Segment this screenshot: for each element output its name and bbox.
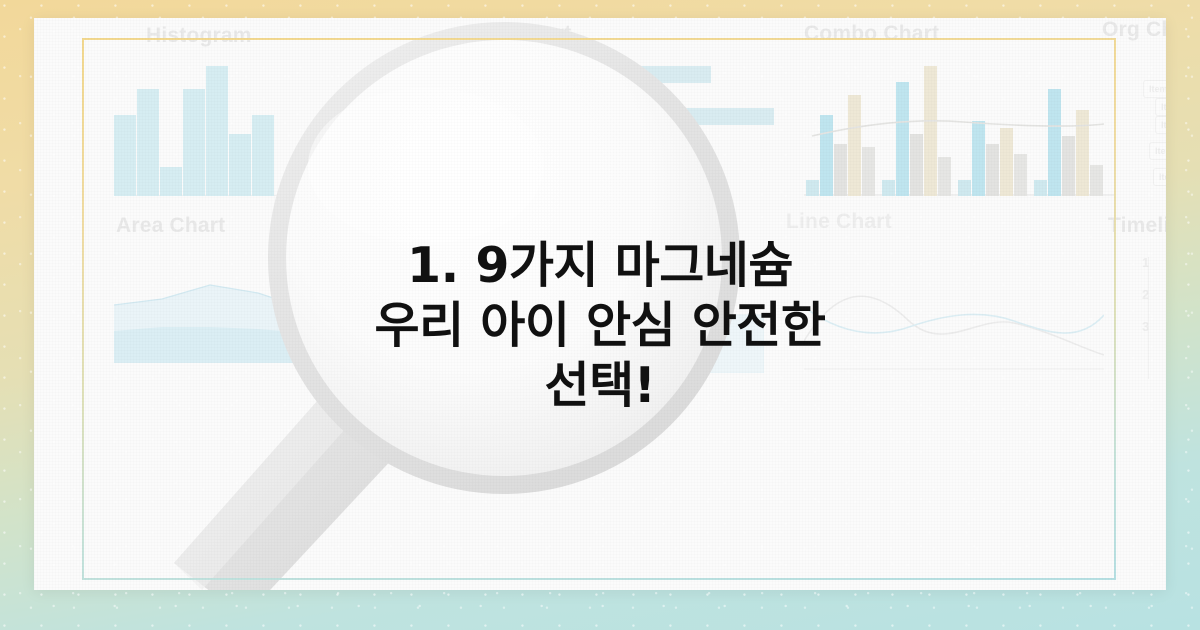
combo-trend-line: [804, 66, 1114, 196]
org-node: Item 2: [1155, 98, 1166, 116]
histogram-bar: [298, 162, 320, 196]
label-bar-chart: Bar Chart: [474, 22, 572, 46]
label-line-chart: Line Chart: [786, 210, 892, 234]
bar-chart: [474, 66, 774, 186]
label-org-chart: Org Chart: [1102, 18, 1166, 42]
label-combo-chart: Combo Chart: [804, 22, 939, 46]
org-node: Item 3: [1155, 116, 1166, 134]
label-area-chart: Area Chart: [116, 214, 225, 238]
org-chart: Item 1 Item 2 Item 3 Item 4 Item 5: [1139, 78, 1166, 198]
poster-card: Histogram Bar Chart Combo Chart Org Char…: [34, 18, 1166, 590]
histogram-bar: [160, 167, 182, 196]
label-histogram: Histogram: [146, 24, 252, 48]
bar-chart-axis: [474, 66, 475, 186]
histogram-bar: [137, 89, 159, 196]
histogram-bar: [114, 115, 136, 196]
page-title: 1. 9가지 마그네슘 우리 아이 안심 안전한 선택!: [34, 236, 1166, 415]
poster-frame: Histogram Bar Chart Combo Chart Org Char…: [0, 0, 1200, 630]
histogram-bar: [206, 66, 228, 196]
bar-chart-bar: [474, 108, 774, 125]
histogram-bar: [367, 139, 389, 196]
label-stepped-area-chart: Stepped Area Chart: [442, 210, 641, 234]
histogram-bar: [344, 162, 366, 196]
bar-chart-bar: [474, 85, 606, 102]
histogram-bar: [252, 115, 274, 196]
bar-chart-bar: [474, 150, 618, 167]
histogram-bar: [321, 162, 343, 196]
bar-chart-bar: [474, 127, 525, 144]
histogram-bar: [229, 134, 251, 196]
histogram-bar: [183, 89, 205, 196]
title-line-2: 우리 아이 안심 안전한: [284, 296, 916, 356]
histogram-chart: [114, 66, 404, 196]
title-line-1: 1. 9가지 마그네슘: [284, 236, 916, 296]
label-timeline: Timeline: [1108, 214, 1166, 238]
title-line-3: 선택!: [284, 356, 916, 416]
org-node: Item 4: [1149, 142, 1166, 160]
org-node: Item 1: [1143, 80, 1166, 98]
combo-chart: [804, 66, 1114, 196]
bar-chart-bar: [474, 169, 693, 186]
org-node: Item 5: [1153, 168, 1166, 186]
bar-chart-bar: [474, 66, 711, 83]
